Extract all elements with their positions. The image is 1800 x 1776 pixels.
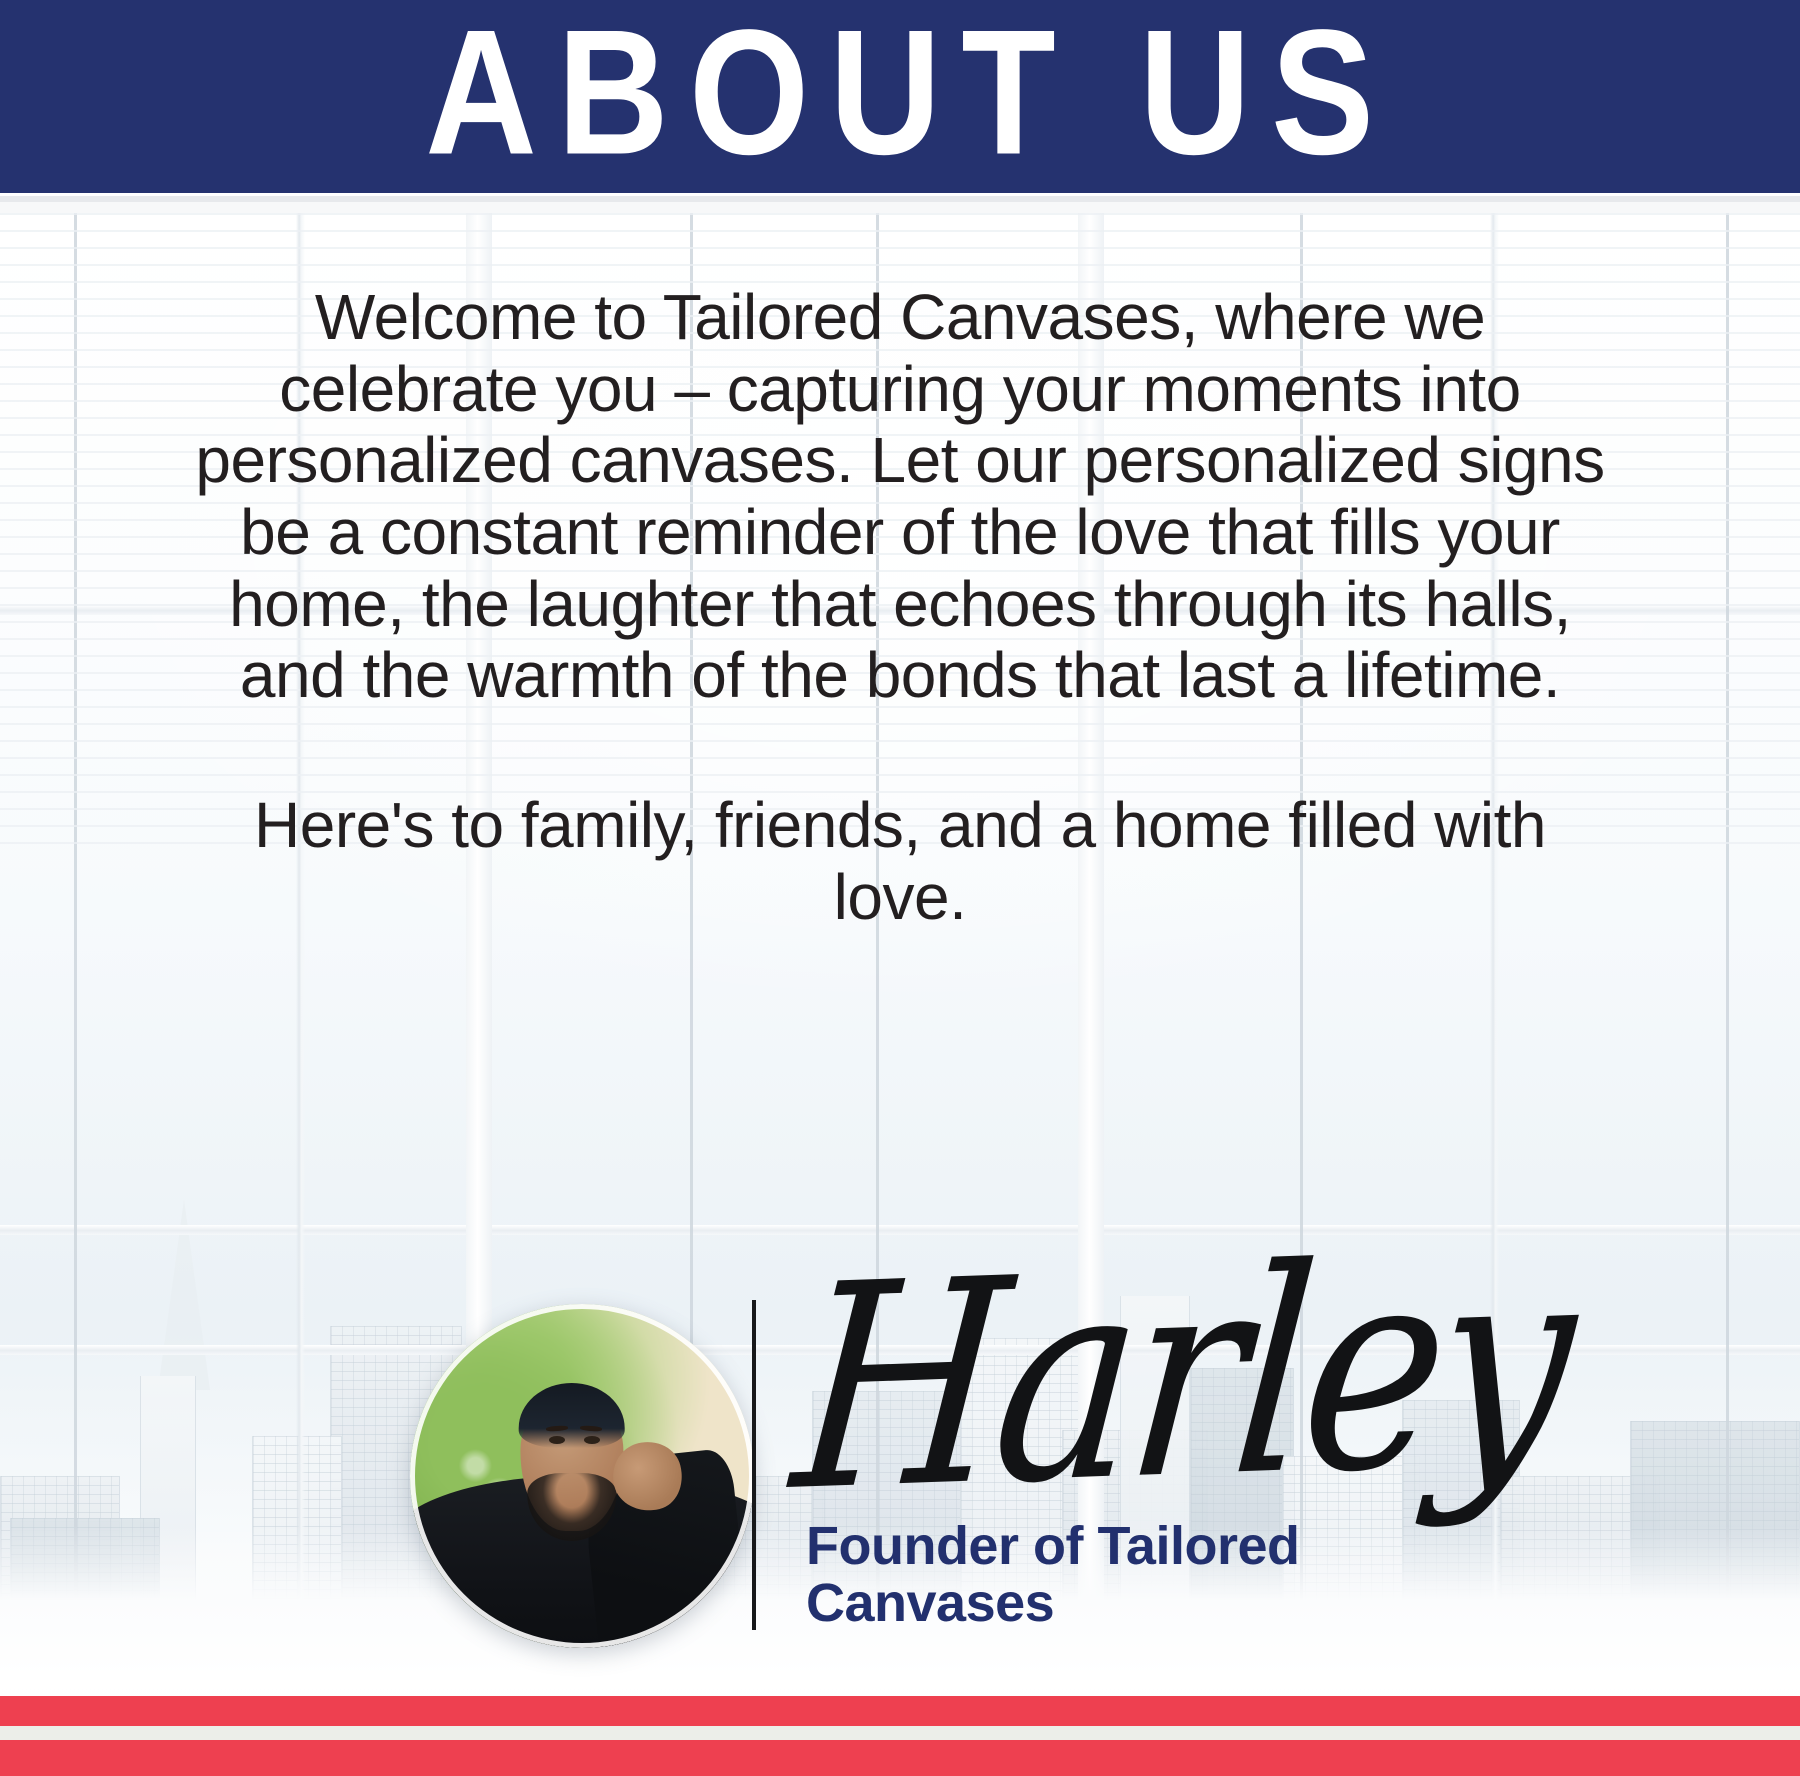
founder-signature-name: Harley <box>786 1223 1577 1532</box>
page-title: ABOUT US <box>405 2 1394 180</box>
paragraph-spacer <box>180 712 1620 790</box>
about-us-page: ABOUT US Welcome to Tailored Canvases, w… <box>0 0 1800 1776</box>
avatar <box>410 1304 754 1648</box>
signature-divider <box>752 1300 756 1630</box>
about-paragraph-1: Welcome to Tailored Canvases, where we c… <box>180 282 1620 712</box>
founder-role-line-2: Canvases <box>806 1573 1054 1633</box>
page-header-banner: ABOUT US <box>0 0 1800 183</box>
avatar-ring <box>410 1304 754 1648</box>
founder-role: Founder of Tailored Canvases <box>806 1518 1366 1632</box>
footer-stripes <box>0 1696 1800 1776</box>
about-us-copy: Welcome to Tailored Canvases, where we c… <box>180 282 1620 933</box>
founder-signature-block: Harley Founder of Tailored Canvases <box>400 1290 1460 1690</box>
banner-underline <box>0 183 1800 213</box>
founder-role-line-1: Founder of Tailored <box>806 1516 1299 1576</box>
footer-stripe-bottom <box>0 1740 1800 1776</box>
footer-stripe-top <box>0 1696 1800 1726</box>
about-paragraph-2: Here's to family, friends, and a home fi… <box>180 790 1620 933</box>
footer-stripe-gap <box>0 1726 1800 1740</box>
